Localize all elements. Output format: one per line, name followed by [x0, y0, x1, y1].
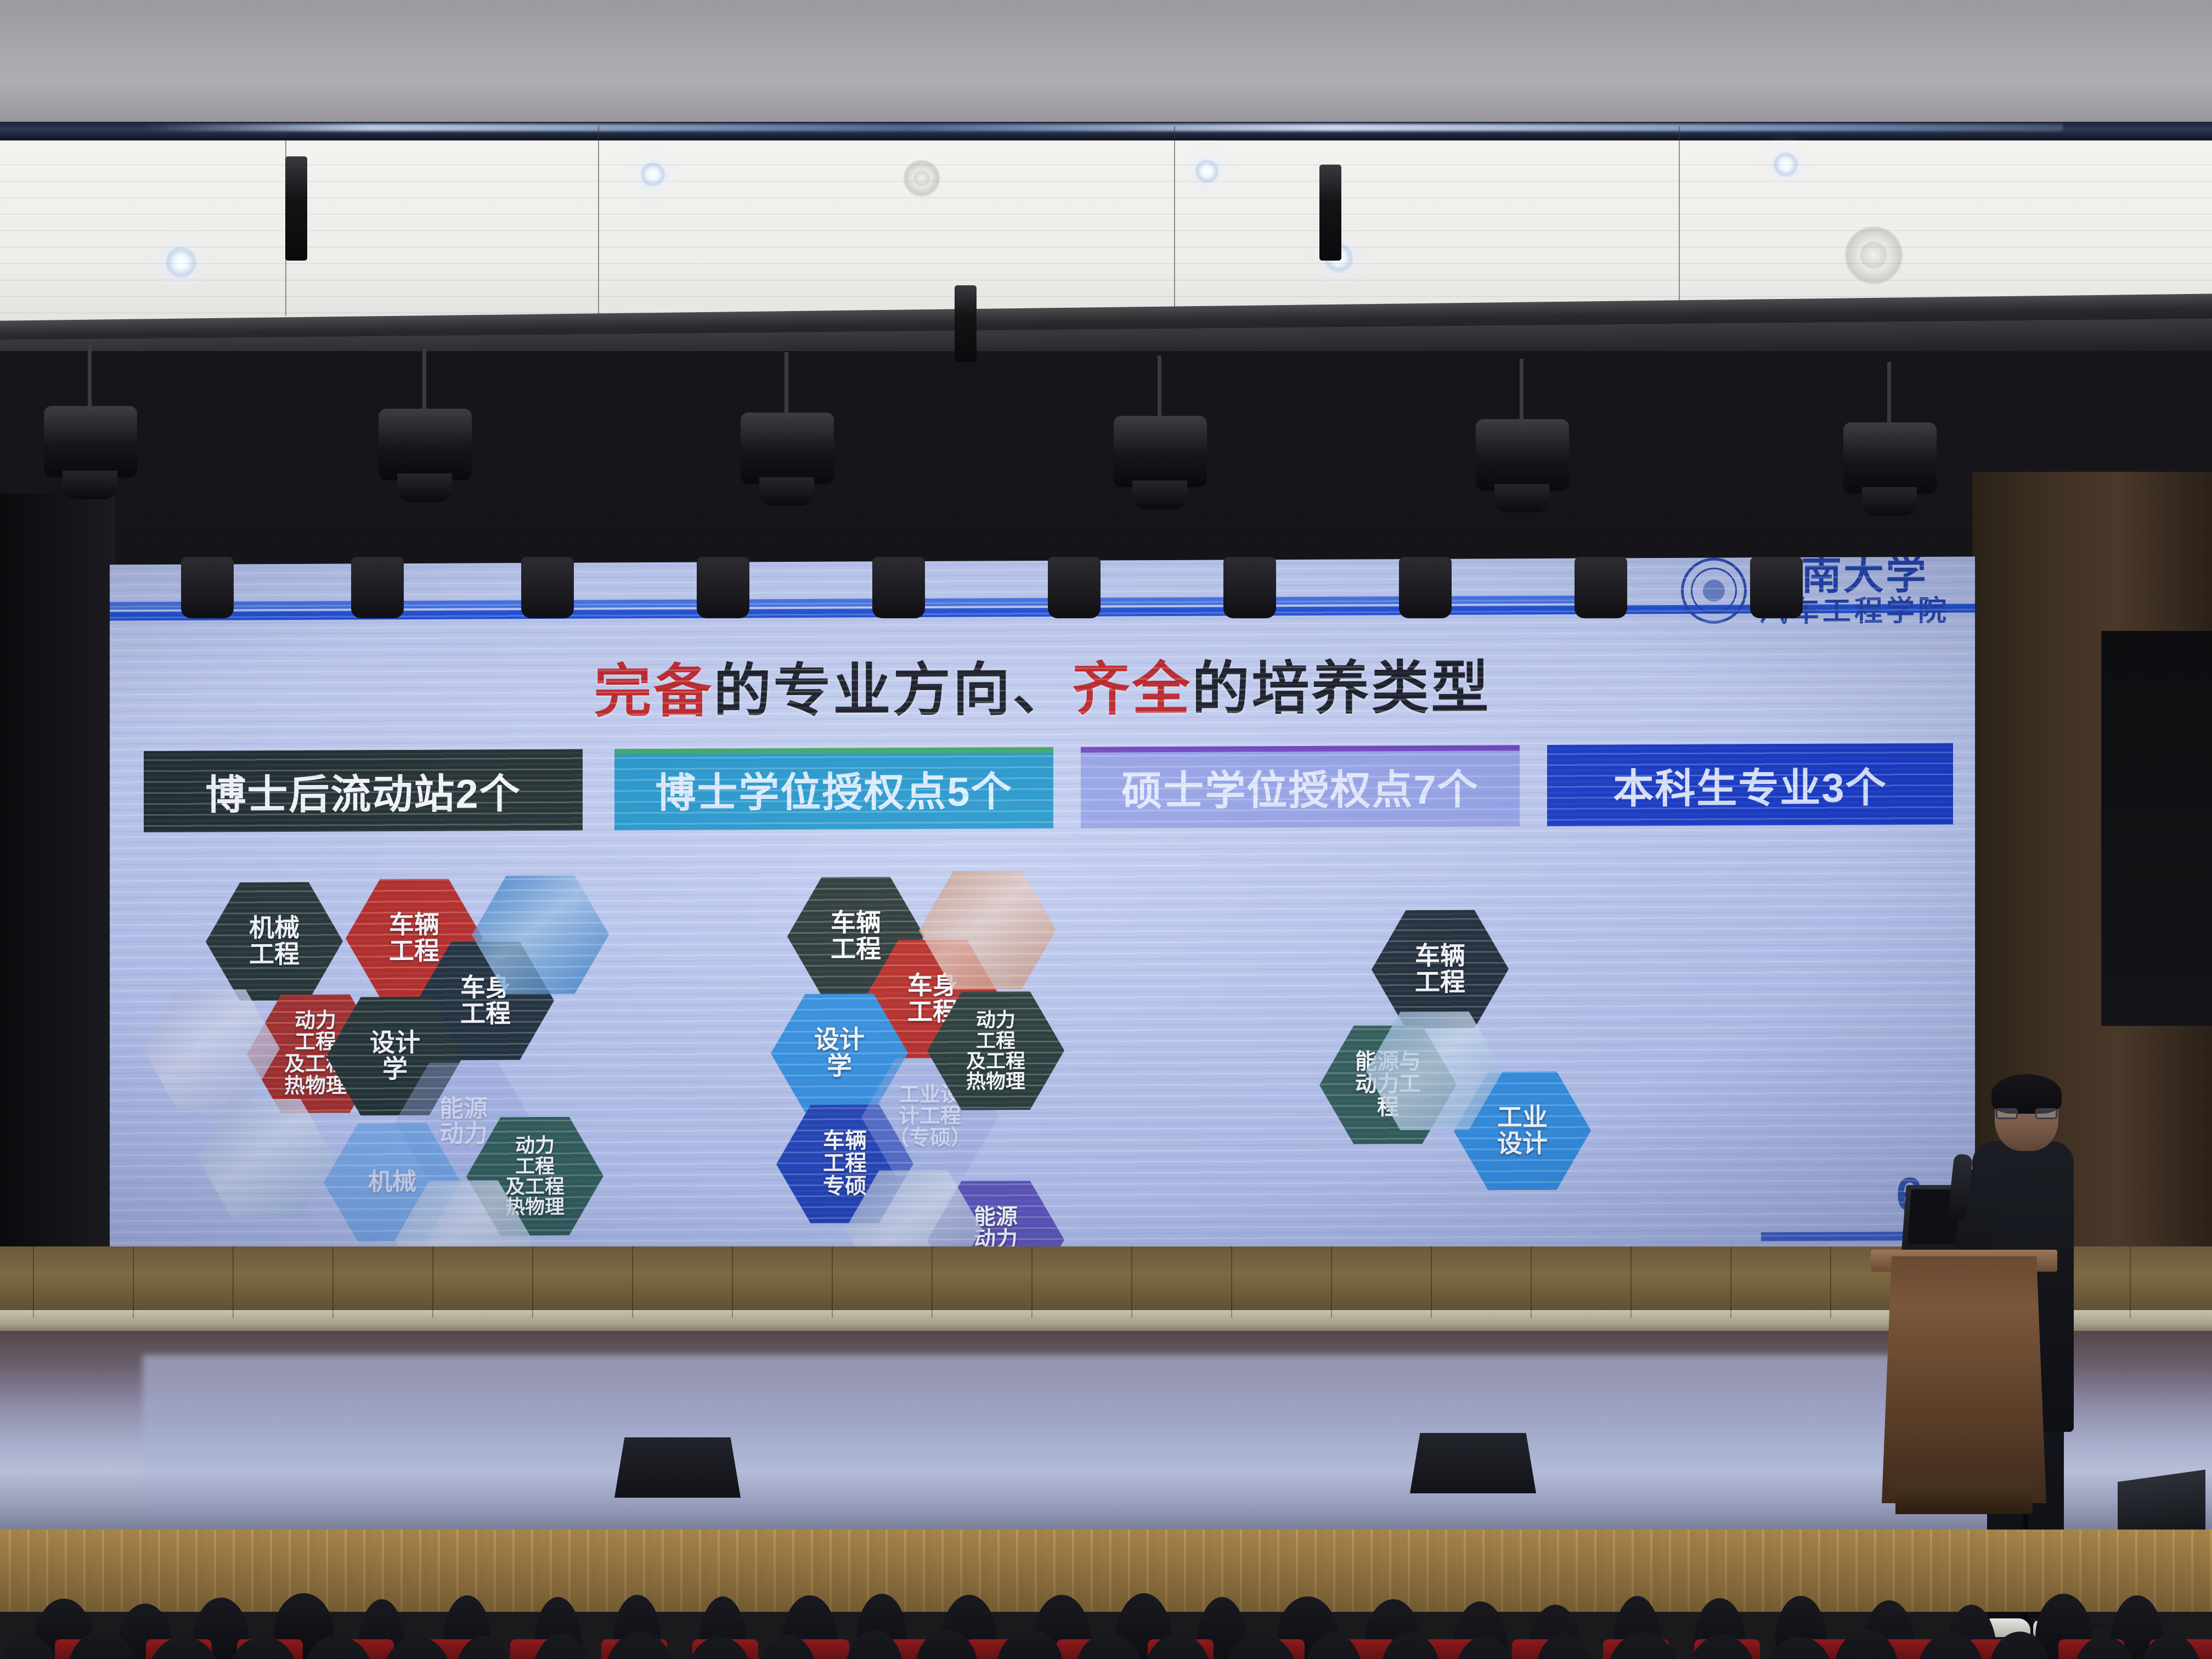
hex-label-line: 工程	[976, 1030, 1015, 1051]
stage-band-seam	[233, 1246, 234, 1318]
stage-band-seam	[1431, 1246, 1432, 1318]
stage-band-seam	[1231, 1246, 1232, 1318]
podium-base	[1895, 1481, 2033, 1514]
stage-band-seam	[1630, 1246, 1632, 1318]
stage-band-seam	[632, 1246, 633, 1318]
moving-head-light	[181, 557, 234, 618]
ceiling-panel-seam	[0, 280, 2212, 280]
stage-band-seam	[1131, 1246, 1132, 1318]
stage-monitor-wedge	[1410, 1433, 1536, 1493]
stage-band-seam	[133, 1246, 134, 1318]
ceiling-downlight	[165, 246, 197, 278]
moving-head-light	[1223, 557, 1276, 618]
category-header-row: 博士后流动站2个博士学位授权点5个硕士学位授权点7个本科生专业3个	[110, 743, 1975, 839]
hanging-speaker	[1319, 165, 1341, 261]
stage-light-fixture	[1476, 419, 1569, 490]
hex-label-line: 工程	[460, 1001, 511, 1027]
stage-band-seam	[532, 1246, 533, 1318]
stage-light-lens	[759, 477, 814, 506]
hex-label-line: 设计	[1497, 1131, 1548, 1157]
stage-light-fixture	[379, 409, 472, 480]
speaker-glasses-icon	[1996, 1108, 2057, 1119]
audience	[0, 1576, 2212, 1659]
moving-head-light	[351, 557, 404, 618]
hex-label-line: 车辆	[823, 1130, 867, 1153]
category-header-label: 硕士学位授权点7个	[1121, 757, 1479, 817]
hex-label-line: 及工程	[505, 1176, 565, 1197]
hex-label-line: 工业	[1497, 1104, 1548, 1131]
hex-label-line: 工程	[515, 1155, 555, 1176]
hex-label-line: 设计	[370, 1030, 420, 1056]
stage-band-seam	[932, 1246, 933, 1318]
slide-title-plain-2: 的培养类型	[1192, 656, 1491, 721]
slide-title: 完备的专业方向、齐全的培养类型	[110, 639, 1975, 731]
hex-label-line: 工程	[249, 941, 300, 968]
moving-head-light	[1399, 557, 1452, 618]
ceiling-downlight	[640, 162, 665, 187]
stage-light-yoke	[1158, 356, 1161, 421]
stage-light-lens	[1132, 481, 1187, 509]
hex-label-line: 车辆	[831, 910, 881, 936]
hex-label-line: 动力	[515, 1135, 555, 1156]
stage-band-seam	[1531, 1246, 1532, 1318]
hex-label-line: （专硕）	[888, 1127, 972, 1149]
hex-label-line: 学	[382, 1056, 408, 1082]
ceiling-panel-seam	[0, 263, 2212, 264]
ceiling-vent	[1845, 227, 1903, 284]
podium	[1882, 1256, 2046, 1503]
stage-band-seam	[732, 1246, 733, 1318]
stage-light-lens	[397, 473, 452, 502]
category-header-label: 本科生专业3个	[1613, 755, 1887, 815]
stage-band-seam	[832, 1246, 833, 1318]
hex-label-line: 热物理	[284, 1075, 347, 1097]
ceiling-slot-glow	[143, 124, 2063, 131]
stage-light-fixture	[1114, 416, 1207, 487]
ceiling-panel-seam	[0, 181, 2212, 182]
presentation-screen: 江南大学 汽车工程学院 完备的专业方向、齐全的培养类型 博士后流动站2个博士学位…	[110, 557, 1975, 1255]
hex-label-line: 车辆	[1415, 943, 1465, 969]
ceiling-panel-seam	[0, 214, 2212, 215]
ceiling-panel-seam	[0, 165, 2212, 165]
hex-label-line: 机械	[368, 1170, 416, 1195]
glasses-lens-right	[2035, 1108, 2057, 1119]
stage-light-lens	[1862, 487, 1917, 516]
hex-label-line: 动力	[295, 1011, 336, 1032]
category-header-label: 博士后流动站2个	[205, 761, 521, 821]
moving-head-light	[521, 557, 574, 618]
moving-head-light	[697, 557, 749, 618]
stage-light-fixture	[1843, 422, 1937, 494]
hex-label-line: 工程	[823, 1153, 867, 1176]
stage-band-seam	[1331, 1246, 1332, 1318]
hex-label-line: 学	[827, 1053, 852, 1080]
stage-light-fixture	[741, 413, 834, 484]
hexagon-diagram: 机械工程动力工程及工程热物理车辆工程车身工程设计学能源动力机械动力工程及工程热物…	[110, 842, 1975, 1255]
stage-light-lens	[1494, 484, 1549, 512]
category-header-label: 博士学位授权点5个	[655, 759, 1012, 819]
moving-head-light	[1048, 557, 1101, 618]
moving-head-light	[1750, 557, 1803, 618]
ceiling-wire	[1679, 126, 1680, 324]
hex-label-line: 热物理	[966, 1071, 1025, 1092]
hex-label-line: 动力	[976, 1009, 1015, 1030]
stage-band-seam	[332, 1246, 334, 1318]
wall-left-dark	[0, 494, 115, 1295]
hex-label-line: 计工程	[899, 1106, 961, 1128]
category-header-4[interactable]: 本科生专业3个	[1547, 743, 1953, 826]
ceiling-panel-seam	[0, 247, 2212, 247]
ceiling-upper-band	[0, 0, 2212, 137]
stage-light-yoke	[88, 346, 92, 411]
stage-light-yoke	[422, 348, 426, 414]
category-header-stripe	[1081, 745, 1520, 752]
moving-head-light	[872, 557, 925, 618]
stage-band-seam	[1730, 1246, 1731, 1318]
stage-light-yoke	[1887, 362, 1891, 428]
hex-label-line: 专硕	[823, 1175, 867, 1198]
stage-monitor-wedge	[614, 1437, 741, 1498]
hex-discipline-tile[interactable]: 机械工程	[206, 882, 343, 1001]
glasses-lens-left	[1996, 1108, 2018, 1119]
category-header-1[interactable]: 博士后流动站2个	[144, 749, 583, 832]
category-header-stripe	[144, 749, 583, 757]
wall-right-dark-panel	[2101, 631, 2212, 1026]
hex-label-line: 动力	[439, 1121, 488, 1147]
stage-band-seam	[1830, 1246, 1831, 1318]
ceiling-vent	[904, 160, 940, 196]
moving-head-light	[1575, 557, 1627, 618]
stage-band-seam	[1031, 1246, 1032, 1318]
ceiling-downlight	[1195, 159, 1219, 183]
hex-label-line: 能源	[439, 1097, 488, 1122]
category-header-3[interactable]: 硕士学位授权点7个	[1081, 745, 1520, 828]
hex-label-line: 车辆	[389, 912, 439, 938]
stage-band-seam	[2130, 1246, 2131, 1318]
university-logo: 江南大学 汽车工程学院	[1681, 557, 1950, 628]
hex-label-line: 机械	[249, 915, 300, 941]
hex-photo-tile[interactable]	[198, 1099, 335, 1218]
university-seal-icon	[1681, 558, 1747, 624]
hanging-speaker	[285, 156, 307, 261]
hanging-speaker	[955, 285, 977, 362]
category-header-stripe	[614, 747, 1053, 754]
stage-light-yoke	[785, 352, 788, 418]
hex-photo-tile[interactable]	[143, 989, 280, 1108]
hex-label-line: 设计	[814, 1027, 865, 1053]
ceiling-panel-seam	[0, 296, 2212, 297]
lecture-hall-scene: 江南大学 汽车工程学院 完备的专业方向、齐全的培养类型 博士后流动站2个博士学位…	[0, 0, 2212, 1659]
hex-label-line: 工程	[831, 936, 881, 962]
stage-light-fixture	[44, 406, 137, 477]
slide-title-accent-2: 齐全	[1073, 657, 1192, 722]
hex-label-line: 工程	[389, 938, 439, 964]
stage-light-yoke	[1520, 359, 1523, 425]
stage-light-lens	[63, 471, 117, 499]
category-header-stripe	[1547, 743, 1953, 751]
hex-label-line: 及工程	[966, 1051, 1025, 1071]
stage-band-seam	[33, 1246, 34, 1318]
slide-title-plain-1: 的专业方向、	[713, 658, 1072, 724]
category-header-2[interactable]: 博士学位授权点5个	[614, 747, 1053, 830]
hex-label-line: 能源	[974, 1206, 1018, 1229]
hex-discipline-tile[interactable]: 车辆工程	[1372, 910, 1509, 1029]
stage-band-seam	[432, 1246, 433, 1318]
ceiling-panel-seam	[0, 198, 2212, 198]
hex-label-line: 工程	[1415, 969, 1465, 996]
stage-floor-reflection	[143, 1355, 1953, 1520]
slide-title-accent-1: 完备	[594, 659, 713, 724]
ceiling-panel-seam	[0, 230, 2212, 231]
